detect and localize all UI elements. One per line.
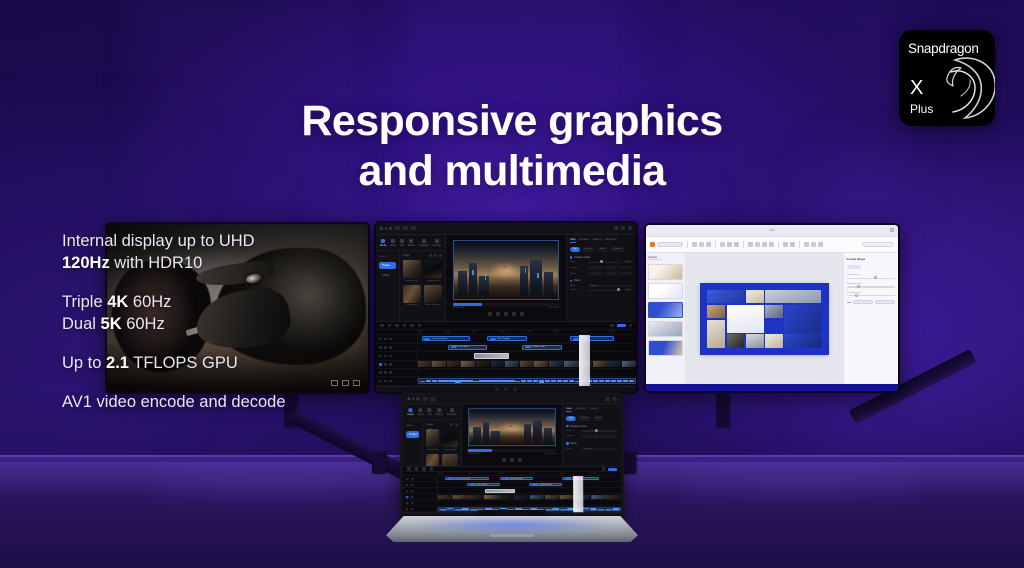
delete-icon[interactable] xyxy=(429,467,433,471)
lock-icon[interactable] xyxy=(389,371,392,374)
slide-card[interactable] xyxy=(746,334,764,347)
lane-video[interactable] xyxy=(418,361,636,369)
thumbnails-subheader: Layer snapshot xyxy=(648,259,683,261)
slider-thumb[interactable] xyxy=(595,429,598,432)
preview-panel: 00:00:00:00 00:02:18:04 xyxy=(462,404,562,466)
timeline-clip[interactable]: Lower Third Intro xyxy=(422,336,470,341)
lane-extra[interactable] xyxy=(418,369,636,377)
slide-card[interactable] xyxy=(765,305,783,318)
clip-handle[interactable] xyxy=(532,484,538,485)
film-frame xyxy=(545,495,560,499)
eye-icon[interactable] xyxy=(384,355,387,358)
export-icon[interactable] xyxy=(606,397,610,401)
position-y-field[interactable] xyxy=(601,435,618,438)
window-close-icon[interactable] xyxy=(380,227,383,230)
monitor-arm-foot-left xyxy=(372,452,386,474)
project-icon[interactable] xyxy=(422,397,427,401)
film-frame xyxy=(476,361,490,367)
zoom-in-icon[interactable] xyxy=(629,324,633,328)
tab-audio[interactable]: Audio xyxy=(390,239,396,248)
section-header[interactable]: Position & Size xyxy=(570,256,633,259)
presentation-body: Canvas Layer snapshot xyxy=(646,253,898,384)
inspector-tab-video[interactable]: Video xyxy=(570,238,576,243)
timeline-clip[interactable]: Lower Third Intro xyxy=(445,477,489,481)
ribbon-divider xyxy=(743,241,744,248)
section-toggle-icon[interactable] xyxy=(570,256,573,259)
eye-icon[interactable] xyxy=(384,346,387,349)
inspector-tab-tracking[interactable]: Tracking xyxy=(593,238,602,243)
minus-icon[interactable] xyxy=(847,302,851,303)
eye-icon[interactable] xyxy=(384,371,387,374)
zoom-controls[interactable] xyxy=(610,324,632,328)
slide-thumbnail-selected[interactable] xyxy=(648,302,683,318)
redo-icon[interactable] xyxy=(411,226,416,230)
transport-controls[interactable] xyxy=(488,312,524,316)
mute-icon[interactable] xyxy=(384,380,387,383)
slide-card[interactable] xyxy=(707,290,744,303)
skip-back-icon[interactable] xyxy=(488,312,492,316)
skip-back-icon[interactable] xyxy=(502,458,506,462)
slider-thumb[interactable] xyxy=(874,276,877,279)
ruler-mark: 00:30 xyxy=(591,473,622,475)
preview-scrubber[interactable] xyxy=(453,303,560,306)
film-frame xyxy=(438,495,453,499)
grid-view-icon[interactable] xyxy=(450,423,453,426)
slide-thumbnail[interactable] xyxy=(648,264,683,280)
preview-viewport[interactable] xyxy=(468,408,557,447)
ruler-mark: 00:05 xyxy=(438,473,469,475)
eye-icon[interactable] xyxy=(411,484,414,487)
position-y-field[interactable] xyxy=(604,266,618,270)
media-tabs[interactable]: Media Audio Text xyxy=(376,235,445,252)
timeline-playhead[interactable] xyxy=(579,335,590,385)
media-item[interactable]: Portrait.png xyxy=(403,285,421,307)
window-controls[interactable] xyxy=(380,227,392,230)
rectangle-icon[interactable] xyxy=(720,242,725,247)
rotate-x-field[interactable] xyxy=(588,272,602,276)
media-item[interactable]: LowerThird.mp4 xyxy=(424,285,442,307)
zoom-slider[interactable] xyxy=(608,468,617,471)
rotate-z-field[interactable] xyxy=(619,272,633,276)
inspector-row-position[interactable]: Position xyxy=(566,435,618,438)
chip-current[interactable]: Current xyxy=(582,247,595,252)
track-type-icon xyxy=(406,502,409,505)
panel-action-buttons[interactable] xyxy=(847,300,895,304)
lane-text-1[interactable]: Lower Third Intro Main Example Platform xyxy=(418,335,636,343)
library-tree-header: Local xyxy=(379,255,396,258)
search-input[interactable] xyxy=(862,242,894,247)
zoom-out-icon[interactable] xyxy=(610,324,614,328)
monitor-center[interactable]: Media Audio Text xyxy=(374,221,638,394)
redo-icon[interactable] xyxy=(388,324,392,328)
window-maximize-icon[interactable] xyxy=(417,398,420,401)
tab-effects[interactable]: Effects xyxy=(408,239,415,248)
inspector-panel: Video Animation Tracking Adjustment Clip… xyxy=(566,235,636,321)
slide-thumbnail[interactable] xyxy=(648,283,683,299)
inspector-tabs[interactable]: Video Animation Tracking xyxy=(566,407,618,412)
tab-transition[interactable]: Transition xyxy=(419,239,429,248)
rounded-rect-icon[interactable] xyxy=(727,242,732,247)
slide-thumbnail[interactable] xyxy=(648,340,683,356)
preview-viewport[interactable] xyxy=(453,240,560,300)
media-caption: LowerThird.mp4 xyxy=(424,304,442,306)
media-item[interactable]: Lantern.png xyxy=(442,429,458,450)
media-thumbnail xyxy=(426,429,439,447)
inspector-chips[interactable]: Clip Current Mask Enhance xyxy=(570,247,633,252)
grid-view-controls[interactable] xyxy=(429,254,442,257)
scale-slider[interactable] xyxy=(588,262,621,263)
undo-icon[interactable] xyxy=(380,324,384,328)
row-key: Scale xyxy=(570,261,586,263)
position-fields[interactable] xyxy=(588,266,633,270)
lock-icon[interactable] xyxy=(389,363,392,366)
media-item[interactable]: Skyline.mp4 xyxy=(403,260,421,282)
monitor-right[interactable]: Slide xyxy=(644,223,900,393)
percent-icon[interactable] xyxy=(734,242,739,247)
undo-icon[interactable] xyxy=(430,397,435,401)
undo-icon[interactable] xyxy=(403,226,408,230)
track-header-overlay[interactable] xyxy=(376,352,417,360)
frame-icon[interactable] xyxy=(706,242,711,247)
feature-display: Internal display up to UHD 120Hz with HD… xyxy=(62,231,312,275)
slide-thumbnail[interactable] xyxy=(648,321,683,337)
chip-clip[interactable]: Clip xyxy=(566,416,576,421)
inspector-section-position: Position & Size Scale 100% Position xyxy=(570,256,633,276)
inspector-tab-tracking[interactable]: Tracking xyxy=(589,407,598,412)
clip-handle[interactable] xyxy=(503,478,509,479)
export-icon[interactable] xyxy=(614,226,618,230)
step-forward-icon[interactable] xyxy=(518,458,522,462)
timeline-toolbar[interactable] xyxy=(376,322,636,330)
split-icon[interactable] xyxy=(395,324,399,328)
slide-card[interactable] xyxy=(765,290,821,303)
text-placement-slider[interactable] xyxy=(847,295,895,296)
section-title: Blend xyxy=(571,442,577,445)
window-controls[interactable] xyxy=(407,398,419,401)
lane-text-2[interactable]: Title Lower Second Lower xyxy=(418,344,636,352)
timeline-clip[interactable]: Platform xyxy=(570,336,614,341)
lock-icon[interactable] xyxy=(389,380,392,383)
titlebar-actions[interactable] xyxy=(606,397,617,401)
chip-mask[interactable]: Mask xyxy=(593,416,604,421)
track-header-text2[interactable] xyxy=(376,344,417,352)
fullscreen-icon[interactable] xyxy=(520,312,524,316)
inspector-tabs[interactable]: Video Animation Tracking Adjustment xyxy=(570,238,633,243)
chip-current[interactable]: Current xyxy=(578,416,591,421)
ruler-mark: 00:10 xyxy=(468,473,499,475)
tab-label: Effects xyxy=(408,244,415,247)
inspector-row-scale[interactable]: Scale 100% xyxy=(570,261,633,263)
shape-options-tab[interactable] xyxy=(847,265,861,269)
feature-highlight: 4K xyxy=(107,293,128,311)
library-tree-item-project[interactable]: Project xyxy=(379,262,396,269)
chip-mask[interactable]: Mask xyxy=(597,247,608,252)
step-forward-icon[interactable] xyxy=(512,312,516,316)
grid-view-icon[interactable] xyxy=(434,254,437,257)
section-toggle-icon[interactable] xyxy=(570,280,573,283)
selected-overlay-clip[interactable] xyxy=(474,353,509,359)
slider-thumb[interactable] xyxy=(855,294,858,297)
blend-mode-select[interactable]: Normal xyxy=(588,285,633,287)
tab-media[interactable]: Media xyxy=(380,239,387,248)
selected-overlay-clip[interactable] xyxy=(485,489,514,493)
align-icon[interactable] xyxy=(755,242,760,247)
eye-icon[interactable] xyxy=(384,338,387,341)
clip-handle[interactable] xyxy=(451,346,457,348)
media-item[interactable]: Lantern.png xyxy=(424,260,442,282)
group-icon[interactable] xyxy=(818,242,823,247)
video-editor-upper: Media Audio Text xyxy=(376,235,636,321)
lock-icon[interactable] xyxy=(389,355,392,358)
eye-icon[interactable] xyxy=(384,363,387,366)
transition-icon xyxy=(422,239,426,243)
eye-icon[interactable] xyxy=(411,502,414,505)
slide-content[interactable] xyxy=(700,283,829,355)
project-icon[interactable] xyxy=(395,226,400,230)
clip-handle[interactable] xyxy=(525,346,531,348)
lane-overlay[interactable] xyxy=(418,352,636,360)
laptop[interactable]: Media Audio Text Effects Transition Loca… xyxy=(386,392,638,552)
settings-icon[interactable] xyxy=(628,226,632,230)
text-size-icon[interactable] xyxy=(748,242,753,247)
media-tabs[interactable]: Media Audio Text Effects Transition xyxy=(403,404,461,420)
slide-card[interactable] xyxy=(727,334,745,347)
split-icon[interactable] xyxy=(422,467,426,471)
tab-media[interactable]: Media xyxy=(407,408,414,416)
presentation-ribbon[interactable] xyxy=(646,237,898,254)
timeline-clip[interactable]: Title Lower xyxy=(467,483,500,487)
audio-waveform-clip[interactable] xyxy=(418,378,636,383)
section-header[interactable]: Blend xyxy=(570,279,633,282)
inspector-tab-animation[interactable]: Animation xyxy=(575,407,586,412)
eye-icon[interactable] xyxy=(411,496,414,499)
reset-button[interactable] xyxy=(875,300,895,304)
slide-card[interactable] xyxy=(727,305,764,333)
background-style-slider[interactable] xyxy=(847,286,895,287)
eye-icon[interactable] xyxy=(411,478,414,481)
inspector-row-opacity[interactable]: Opacity 100% xyxy=(570,289,633,291)
transport-controls[interactable] xyxy=(502,458,522,462)
inspector-tab-animation[interactable]: Animation xyxy=(579,238,590,243)
import-label[interactable]: Import xyxy=(426,423,433,426)
clip-handle[interactable] xyxy=(490,338,496,340)
format-shape-panel: Format Shape Line Reflection Background … xyxy=(843,253,898,384)
inspector-tab-adjustment[interactable]: Adjustment xyxy=(605,238,617,243)
tab-settings[interactable]: Settings xyxy=(433,239,442,248)
slide-canvas[interactable] xyxy=(686,253,842,384)
track-type-icon xyxy=(406,484,409,487)
blend-mode-select[interactable]: Normal xyxy=(582,448,618,450)
bring-front-icon[interactable] xyxy=(804,242,809,247)
zoom-controls[interactable] xyxy=(602,467,618,471)
timeline-clip[interactable]: Main Example xyxy=(500,477,533,481)
track-header-video[interactable] xyxy=(376,361,417,369)
eye-icon[interactable] xyxy=(411,490,414,493)
snapdragon-dragon-icon xyxy=(941,52,995,124)
position-x-field[interactable] xyxy=(581,435,598,438)
image-icon[interactable] xyxy=(790,242,795,247)
filmstrip[interactable] xyxy=(438,495,622,499)
rotate-y-field[interactable] xyxy=(604,272,618,276)
section-header[interactable]: Blend xyxy=(566,442,618,445)
clip-label: Title Lower xyxy=(458,346,468,348)
titlebar-actions[interactable] xyxy=(614,226,632,230)
slide-card[interactable] xyxy=(746,290,764,303)
slider-thumb[interactable] xyxy=(617,288,620,291)
slider-thumb[interactable] xyxy=(600,260,603,263)
laptop-lid: Media Audio Text Effects Transition Loca… xyxy=(399,392,624,520)
inspector-chips[interactable]: Clip Current Mask xyxy=(566,416,618,421)
slide-card[interactable] xyxy=(707,305,725,318)
lock-icon[interactable] xyxy=(389,346,392,349)
text-icon xyxy=(428,408,432,412)
slide-card[interactable] xyxy=(765,334,783,347)
tab-audio[interactable]: Audio xyxy=(418,408,424,416)
position-fields[interactable] xyxy=(581,435,617,438)
spacing-icon[interactable] xyxy=(762,242,767,247)
clip-handle[interactable] xyxy=(448,478,454,479)
film-frame xyxy=(520,361,534,367)
track-type-icon xyxy=(379,338,382,341)
clip-handle[interactable] xyxy=(573,338,579,340)
inspector-row-scale[interactable]: Scale xyxy=(566,430,618,432)
position-x-field[interactable] xyxy=(588,266,602,270)
share-icon[interactable] xyxy=(613,397,617,401)
opacity-slider[interactable] xyxy=(588,290,621,291)
lock-icon[interactable] xyxy=(389,338,392,341)
section-header[interactable]: Position & Size xyxy=(566,425,618,428)
window-close-icon[interactable] xyxy=(407,398,410,401)
line-height-icon[interactable] xyxy=(769,242,774,247)
slide-card[interactable] xyxy=(707,320,725,348)
section-toggle-icon[interactable] xyxy=(566,425,569,427)
timeline-playhead[interactable] xyxy=(573,476,582,512)
undo-icon[interactable] xyxy=(407,467,411,471)
scene-neon xyxy=(525,268,526,273)
apply-button[interactable] xyxy=(853,300,873,304)
rotate-fields[interactable] xyxy=(588,272,633,276)
mute-icon[interactable] xyxy=(411,508,414,511)
row-value[interactable]: 100% xyxy=(623,261,633,263)
snap-icon[interactable] xyxy=(513,388,517,391)
video-editor-app: Media Audio Text xyxy=(376,223,636,392)
inspector-row-mode[interactable]: Mode Normal xyxy=(566,448,618,450)
clip-handle[interactable] xyxy=(565,478,571,479)
zoom-slider[interactable] xyxy=(617,324,626,327)
insert-dropdown[interactable] xyxy=(657,242,683,247)
chip-clip[interactable]: Clip xyxy=(570,247,580,252)
track-header-text1[interactable] xyxy=(376,335,417,343)
grid-view-controls[interactable] xyxy=(450,423,458,426)
play-icon[interactable] xyxy=(510,458,514,462)
slider-thumb[interactable] xyxy=(857,285,860,288)
media-caption: Portrait.png xyxy=(403,304,421,306)
window-minimize-icon[interactable] xyxy=(385,227,388,230)
send-back-icon[interactable] xyxy=(811,242,816,247)
crop-icon[interactable] xyxy=(699,242,704,247)
inspector-tab-video[interactable]: Video xyxy=(566,407,572,412)
window-minimize-icon[interactable] xyxy=(412,398,415,401)
film-frame xyxy=(453,495,468,499)
clip-label: Second Lower xyxy=(540,484,553,486)
feature-gpu: Up to 2.1 TFLOPS GPU xyxy=(62,353,312,375)
tab-text[interactable]: Text xyxy=(400,239,404,248)
film-frame xyxy=(491,361,505,367)
clip-handle[interactable] xyxy=(470,484,476,485)
scene-building xyxy=(469,263,476,296)
timeline-clip[interactable]: Title Lower xyxy=(448,345,487,350)
film-frame xyxy=(606,495,621,499)
tab-transition[interactable]: Transition xyxy=(447,408,457,416)
clip-handle[interactable] xyxy=(424,338,430,340)
speed-icon[interactable] xyxy=(418,324,422,328)
inspector-row-mode[interactable]: Mode Normal xyxy=(570,285,633,287)
zoom-out-icon[interactable] xyxy=(602,467,606,471)
list-view-icon[interactable] xyxy=(455,423,458,426)
track-header-audio[interactable] xyxy=(376,377,417,385)
import-label[interactable]: Import xyxy=(403,254,410,257)
library-tree-item-project[interactable]: Project xyxy=(406,431,419,438)
position-z-field[interactable] xyxy=(619,266,633,270)
scale-slider[interactable] xyxy=(581,431,617,432)
sort-icon[interactable] xyxy=(429,254,432,257)
scene-marker xyxy=(509,425,513,427)
ruler-mark: 00:20 xyxy=(529,473,560,475)
tab-label: Transition xyxy=(447,413,457,416)
library-tree-item-folder[interactable]: Folder xyxy=(379,272,396,279)
slide-card[interactable] xyxy=(784,305,821,333)
lane-audio[interactable] xyxy=(418,377,636,385)
media-caption: Lantern.png xyxy=(442,449,458,451)
row-value[interactable]: 100% xyxy=(623,289,633,291)
list-view-icon[interactable] xyxy=(439,254,442,257)
section-toggle-icon[interactable] xyxy=(566,442,569,444)
shape-icon[interactable] xyxy=(783,242,788,247)
brand-icon[interactable] xyxy=(650,242,655,247)
share-icon[interactable] xyxy=(621,226,625,230)
select-icon[interactable] xyxy=(692,242,697,247)
gear-icon[interactable] xyxy=(890,228,894,232)
crop-icon[interactable] xyxy=(410,324,414,328)
timeline-clip[interactable]: Second Lower xyxy=(529,483,562,487)
fit-timeline-icon[interactable] xyxy=(495,388,499,391)
tab-effects[interactable]: Effects xyxy=(436,408,443,416)
delete-icon[interactable] xyxy=(403,324,407,328)
laptop-screen: Media Audio Text Effects Transition Loca… xyxy=(402,395,621,517)
laptop-trackpad[interactable] xyxy=(490,534,534,537)
preview-scrubber[interactable] xyxy=(468,449,557,451)
film-frame xyxy=(484,495,499,499)
step-back-icon[interactable] xyxy=(496,312,500,316)
timeline-clip[interactable]: Main Example xyxy=(487,336,526,341)
row-key: Position xyxy=(570,267,586,269)
inspector-row-rotate[interactable]: Rotate xyxy=(570,272,633,276)
filmstrip[interactable] xyxy=(418,361,636,367)
window-maximize-icon[interactable] xyxy=(389,227,392,230)
tab-text[interactable]: Text xyxy=(427,408,431,416)
slide-card[interactable] xyxy=(784,334,821,347)
film-frame xyxy=(530,495,545,499)
marker-icon[interactable] xyxy=(504,388,508,391)
media-item[interactable]: Skyline.mp4 xyxy=(426,429,439,450)
redo-icon[interactable] xyxy=(414,467,418,471)
timeline-clip[interactable]: Second Lower xyxy=(522,345,561,350)
chip-enhance[interactable]: Enhance xyxy=(610,247,625,252)
line-reflection-slider[interactable] xyxy=(847,278,895,279)
track-header-extra[interactable] xyxy=(376,369,417,377)
inspector-row-position[interactable]: Position xyxy=(570,266,633,270)
play-icon[interactable] xyxy=(504,312,508,316)
